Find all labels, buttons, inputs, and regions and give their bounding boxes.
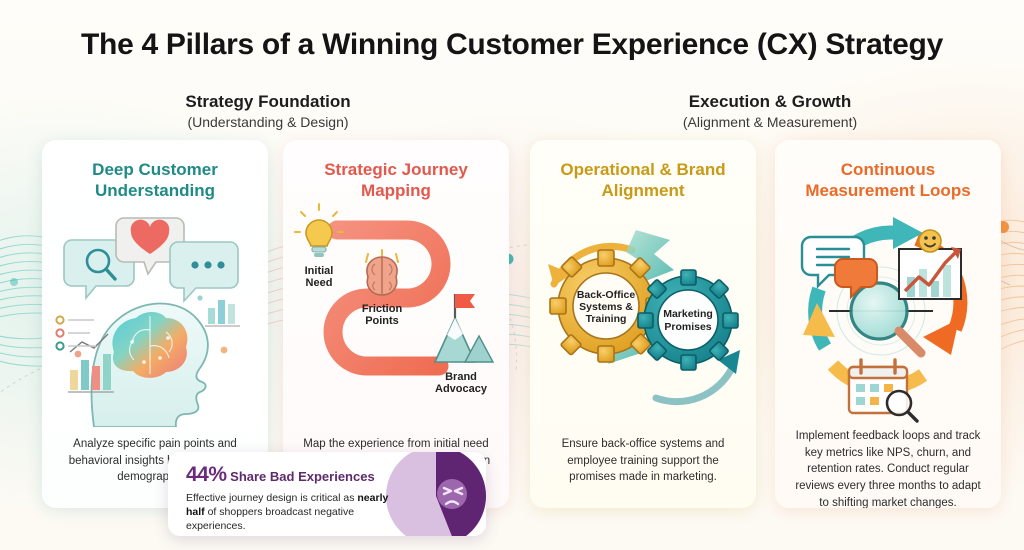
stat-description-after: of shoppers broadcast negative experienc… xyxy=(186,506,354,532)
group-title: Execution & Growth xyxy=(620,92,920,112)
angry-face-icon xyxy=(437,479,467,509)
stat-headline: 44% Share Bad Experiences xyxy=(186,463,398,486)
card-description: Ensure back-office systems and employee … xyxy=(544,436,742,486)
journey-label-initial-need-line1: Initial xyxy=(305,265,334,277)
gear-label-backoffice-line3: Training xyxy=(586,313,627,325)
group-subtitle: (Alignment & Measurement) xyxy=(620,114,920,130)
stat-description-before: Effective journey design is critical as xyxy=(186,492,357,504)
arrow-head-right-icon xyxy=(923,319,959,355)
journey-path-illustration: Initial Need xyxy=(289,202,503,427)
brain-head-insights-illustration xyxy=(48,202,262,427)
gear-label-marketing-line2: Promises xyxy=(664,321,711,333)
gear-label-backoffice-line2: Systems & xyxy=(579,301,633,313)
gear-marketing-promises-icon xyxy=(638,270,738,370)
brain-friction-icon xyxy=(366,250,398,295)
pillar-card-continuous-measurement-loops[interactable]: Continuous Measurement Loops xyxy=(775,140,1001,508)
arrow-head-left-icon xyxy=(803,303,835,337)
journey-path-line xyxy=(333,230,441,366)
card-title: Operational & Brand Alignment xyxy=(540,160,746,201)
chat-bubble-icon xyxy=(170,242,238,301)
card-title: Deep Customer Understanding xyxy=(52,160,258,201)
pillar-card-operational-brand-alignment[interactable]: Operational & Brand Alignment xyxy=(530,140,756,508)
gear-label-marketing-line1: Marketing xyxy=(663,308,713,320)
stat-pie-chart xyxy=(384,452,486,536)
measurement-cycle-illustration xyxy=(781,202,995,427)
stat-percent: 44% xyxy=(186,463,227,486)
card-description: Implement feedback loops and track key m… xyxy=(789,428,987,508)
card-title: Continuous Measurement Loops xyxy=(785,160,991,201)
stat-text-block: 44% Share Bad Experiences Effective jour… xyxy=(186,463,398,534)
group-header-execution-growth: Execution & Growth (Alignment & Measurem… xyxy=(620,92,920,130)
journey-label-advocacy-line2: Advocacy xyxy=(435,383,488,395)
bar-chart-decoration-right xyxy=(205,300,240,326)
journey-label-friction-line2: Points xyxy=(365,315,399,327)
list-dots-decoration xyxy=(56,316,96,349)
page-title: The 4 Pillars of a Winning Customer Expe… xyxy=(0,28,1024,62)
stat-description: Effective journey design is critical as … xyxy=(186,492,398,534)
card-title: Strategic Journey Mapping xyxy=(293,160,499,201)
mountain-flag-icon xyxy=(435,294,493,362)
infographic-canvas: The 4 Pillars of a Winning Customer Expe… xyxy=(0,0,1024,550)
gear-label-backoffice-line1: Back-Office xyxy=(577,289,636,301)
calendar-review-icon xyxy=(849,360,917,421)
journey-label-initial-need-line2: Need xyxy=(306,277,333,289)
stat-callout-card[interactable]: 44% Share Bad Experiences Effective jour… xyxy=(168,452,486,536)
journey-label-advocacy-line1: Brand xyxy=(445,371,477,383)
group-header-strategy-foundation: Strategy Foundation (Understanding & Des… xyxy=(118,92,418,130)
group-subtitle: (Understanding & Design) xyxy=(118,114,418,130)
stat-headline-label: Share Bad Experiences xyxy=(230,469,375,484)
group-title: Strategy Foundation xyxy=(118,92,418,112)
interlocking-gears-illustration: Back-Office Systems & Training xyxy=(536,202,750,427)
journey-label-friction-line1: Friction xyxy=(362,303,403,315)
